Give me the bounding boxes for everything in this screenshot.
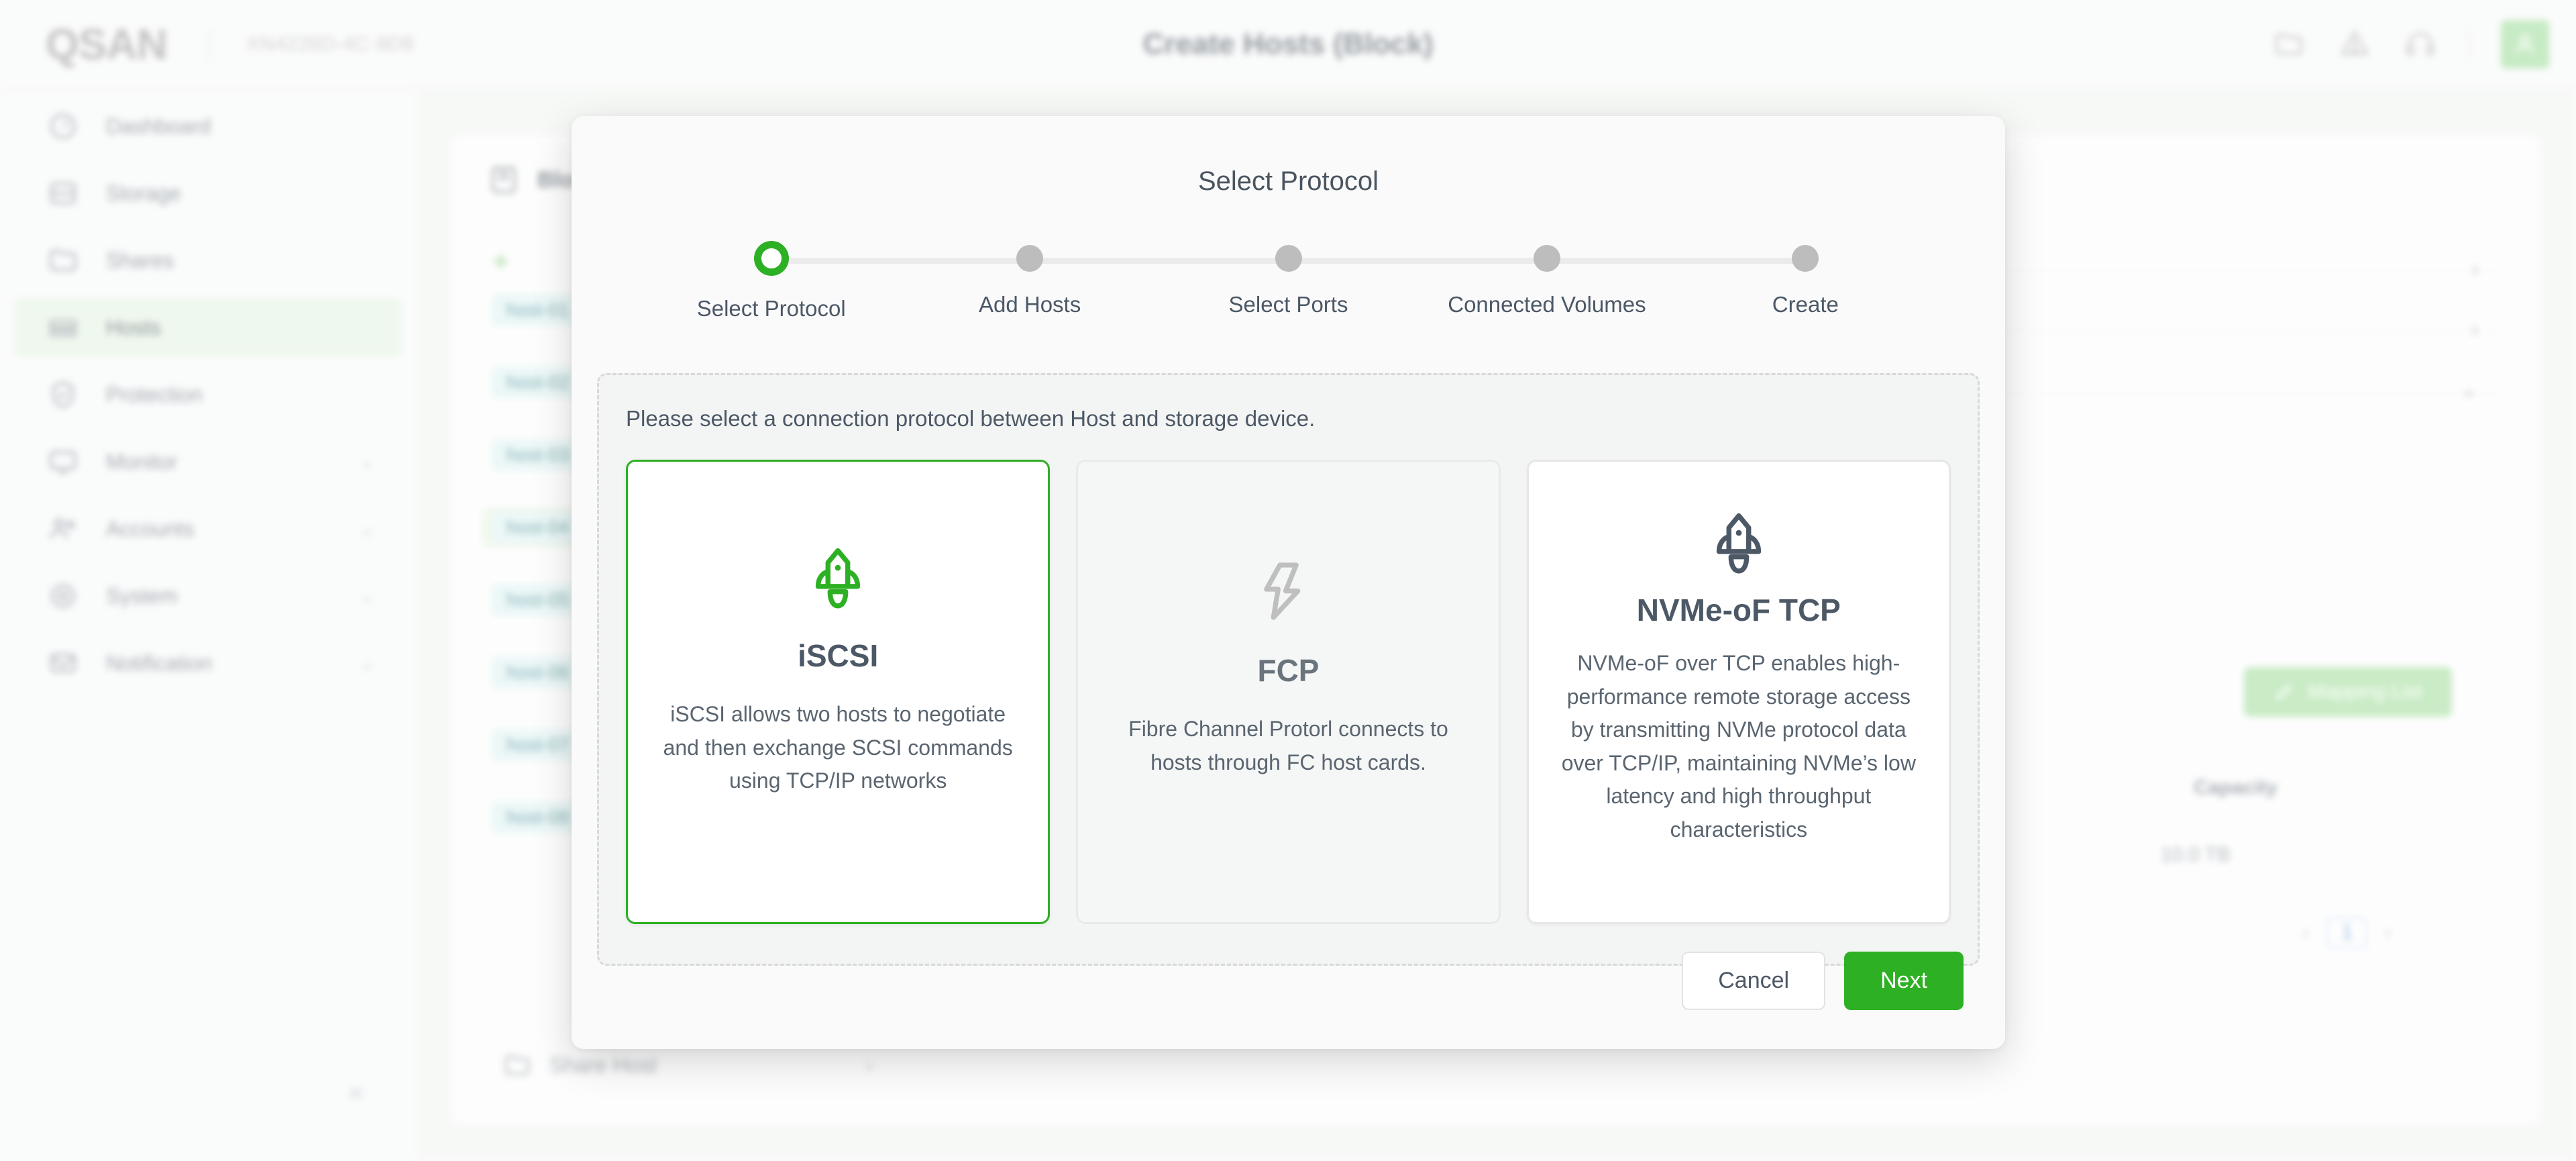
- step-dot: [1275, 245, 1302, 272]
- step-select-protocol[interactable]: Select Protocol: [642, 245, 900, 321]
- step-connector: [1289, 258, 1547, 264]
- protocol-title: NVMe-oF TCP: [1637, 592, 1841, 628]
- protocol-description: NVMe-oF over TCP enables high-performanc…: [1561, 647, 1917, 847]
- step-label: Select Ports: [1229, 292, 1348, 317]
- protocol-card-iscsi[interactable]: iSCSI iSCSI allows two hosts to negotiat…: [626, 460, 1050, 924]
- step-connector: [1547, 258, 1805, 264]
- rocket-icon: [1704, 501, 1774, 588]
- protocol-selection-panel: Please select a connection protocol betw…: [597, 373, 1980, 966]
- step-connected-volumes[interactable]: Connected Volumes: [1417, 245, 1676, 317]
- protocol-description: iSCSI allows two hosts to negotiate and …: [660, 698, 1016, 798]
- dialog-title: Select Protocol: [572, 116, 2005, 197]
- instruction-text: Please select a connection protocol betw…: [599, 375, 1978, 432]
- step-dot: [1016, 245, 1043, 272]
- step-dot: [1792, 245, 1819, 272]
- step-create[interactable]: Create: [1676, 245, 1935, 317]
- step-label: Select Protocol: [697, 296, 846, 321]
- step-add-hosts[interactable]: Add Hosts: [900, 245, 1159, 317]
- step-label: Create: [1772, 292, 1839, 317]
- step-label: Connected Volumes: [1448, 292, 1646, 317]
- protocol-title: FCP: [1257, 652, 1319, 689]
- step-connector: [1030, 258, 1288, 264]
- protocol-title: iSCSI: [798, 638, 878, 674]
- step-dot: [1534, 245, 1560, 272]
- next-button[interactable]: Next: [1844, 952, 1964, 1010]
- step-connector: [771, 258, 1030, 264]
- lightning-bolt-icon: [1253, 548, 1323, 635]
- protocol-card-list: iSCSI iSCSI allows two hosts to negotiat…: [599, 432, 1978, 924]
- protocol-card-fcp[interactable]: FCP Fibre Channel Protorl connects to ho…: [1076, 460, 1500, 924]
- protocol-card-nvme-of-tcp[interactable]: NVMe-oF TCP NVMe-oF over TCP enables hig…: [1527, 460, 1951, 924]
- step-dot: [754, 241, 789, 276]
- select-protocol-dialog: Select Protocol Select Protocol Add Host…: [572, 116, 2005, 1049]
- cancel-button[interactable]: Cancel: [1682, 952, 1825, 1010]
- rocket-icon: [803, 536, 873, 623]
- step-select-ports[interactable]: Select Ports: [1159, 245, 1417, 317]
- wizard-stepper: Select Protocol Add Hosts Select Ports C…: [642, 245, 1935, 321]
- step-label: Add Hosts: [979, 292, 1081, 317]
- protocol-description: Fibre Channel Protorl connects to hosts …: [1110, 713, 1466, 779]
- dialog-footer: Cancel Next: [1682, 952, 1964, 1010]
